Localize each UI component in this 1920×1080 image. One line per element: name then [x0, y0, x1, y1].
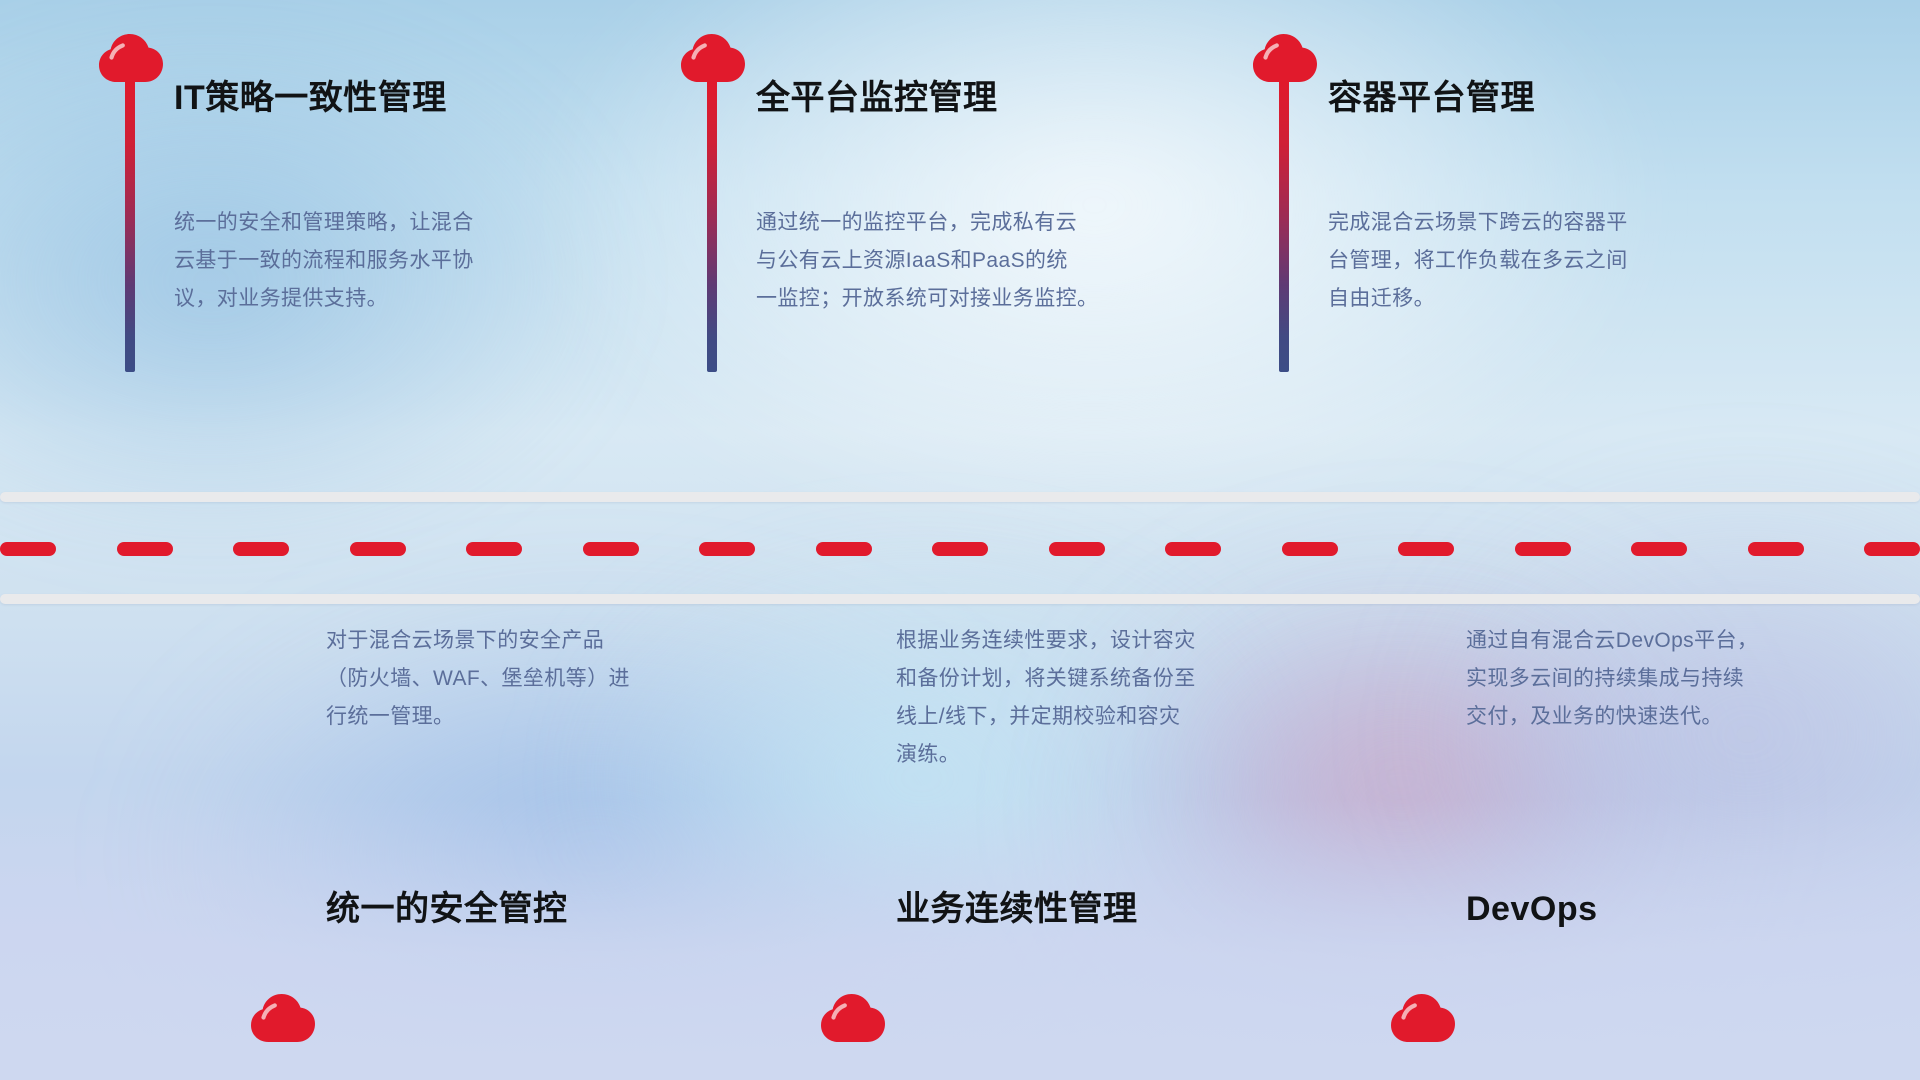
road-dash [1748, 542, 1804, 556]
stem-line [125, 80, 135, 372]
card-body: 统一的安全和管理策略，让混合 云基于一致的流程和服务水平协 议，对业务提供支持。 [174, 204, 616, 318]
card-it-policy-consistency[interactable]: IT策略一致性管理 统一的安全和管理策略，让混合 云基于一致的流程和服务水平协 … [96, 0, 566, 492]
road-dash [0, 542, 56, 556]
road-dash [1165, 542, 1221, 556]
card-body: 对于混合云场景下的安全产品 （防火墙、WAF、堡垒机等）进 行统一管理。 [326, 622, 768, 736]
top-row: IT策略一致性管理 统一的安全和管理策略，让混合 云基于一致的流程和服务水平协 … [0, 0, 1920, 492]
card-body: 根据业务连续性要求，设计容灾 和备份计划，将关键系统备份至 线上/线下，并定期校… [896, 622, 1338, 774]
card-container-platform[interactable]: 容器平台管理 完成混合云场景下跨云的容器平 台管理，将工作负载在多云之间 自由迁… [1250, 0, 1720, 492]
card-body: 通过自有混合云DevOps平台， 实现多云间的持续集成与持续 交付，及业务的快速… [1466, 622, 1908, 736]
cloud-pin-full-platform-monitoring [678, 28, 748, 84]
cloud-icon [818, 988, 888, 1044]
road-dash [816, 542, 872, 556]
road-dash [466, 542, 522, 556]
cloud-icon [248, 988, 318, 1044]
card-body: 完成混合云场景下跨云的容器平 台管理，将工作负载在多云之间 自由迁移。 [1328, 204, 1770, 318]
cloud-pin-it-policy-consistency [96, 28, 166, 84]
cloud-icon [96, 28, 166, 84]
card-title: 统一的安全管控 [326, 889, 568, 930]
cloud-pin-container-platform [1250, 28, 1320, 84]
cloud-icon [1388, 988, 1458, 1044]
bottom-row: 对于混合云场景下的安全产品 （防火墙、WAF、堡垒机等）进 行统一管理。 统一的… [0, 604, 1920, 1080]
road-dash [1398, 542, 1454, 556]
road-divider [0, 492, 1920, 604]
road-dash [1864, 542, 1920, 556]
road-edge-top-line [0, 492, 1920, 502]
card-title: DevOps [1466, 889, 1598, 930]
road-dash [117, 542, 173, 556]
stem-line [1279, 80, 1289, 372]
road-dash [583, 542, 639, 556]
card-title: IT策略一致性管理 [174, 78, 447, 119]
road-dashed-centerline [0, 542, 1920, 556]
cloud-icon [1250, 28, 1320, 84]
card-business-continuity[interactable]: 根据业务连续性要求，设计容灾 和备份计划，将关键系统备份至 线上/线下，并定期校… [818, 604, 1288, 1080]
road-dash [1631, 542, 1687, 556]
road-dash [350, 542, 406, 556]
stem-line [707, 80, 717, 372]
road-dash [1282, 542, 1338, 556]
cloud-icon [678, 28, 748, 84]
road-dash [233, 542, 289, 556]
card-body: 通过统一的监控平台，完成私有云 与公有云上资源IaaS和PaaS的统 一监控；开… [756, 204, 1198, 318]
road-dash [1049, 542, 1105, 556]
road-dash [1515, 542, 1571, 556]
road-dash [699, 542, 755, 556]
card-unified-security[interactable]: 对于混合云场景下的安全产品 （防火墙、WAF、堡垒机等）进 行统一管理。 统一的… [248, 604, 718, 1080]
road-edge-bottom-line [0, 594, 1920, 604]
card-title: 全平台监控管理 [756, 78, 998, 119]
card-title: 容器平台管理 [1328, 78, 1535, 119]
road-dash [932, 542, 988, 556]
card-title: 业务连续性管理 [896, 889, 1138, 930]
card-devops[interactable]: 通过自有混合云DevOps平台， 实现多云间的持续集成与持续 交付，及业务的快速… [1388, 604, 1858, 1080]
card-full-platform-monitoring[interactable]: 全平台监控管理 通过统一的监控平台，完成私有云 与公有云上资源IaaS和PaaS… [678, 0, 1148, 492]
